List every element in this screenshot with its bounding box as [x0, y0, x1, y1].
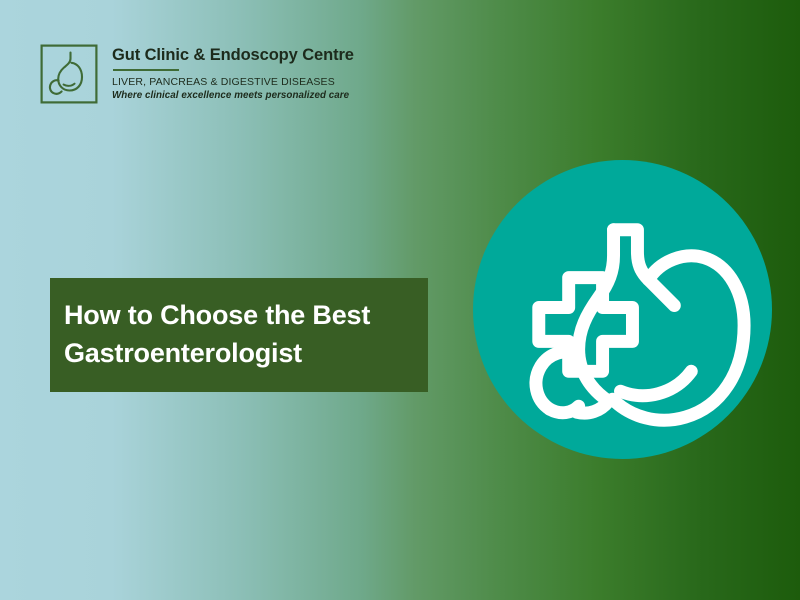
clinic-logo[interactable]: Gut Clinic & Endoscopy Centre LIVER, PAN… — [40, 44, 354, 104]
logo-tagline: Where clinical excellence meets personal… — [112, 90, 354, 103]
logo-text-block: Gut Clinic & Endoscopy Centre LIVER, PAN… — [112, 44, 354, 103]
logo-divider — [113, 69, 179, 71]
blog-hero-banner: Gut Clinic & Endoscopy Centre LIVER, PAN… — [0, 0, 800, 600]
stomach-in-square-icon — [40, 44, 98, 104]
page-title: How to Choose the Best Gastroenterologis… — [64, 297, 428, 373]
hero-illustration — [473, 160, 772, 459]
headline-banner-box: How to Choose the Best Gastroenterologis… — [50, 278, 428, 392]
stomach-with-medical-cross-icon — [473, 160, 772, 459]
logo-title: Gut Clinic & Endoscopy Centre — [112, 46, 354, 64]
logo-subtitle: LIVER, PANCREAS & DIGESTIVE DISEASES — [112, 76, 354, 89]
